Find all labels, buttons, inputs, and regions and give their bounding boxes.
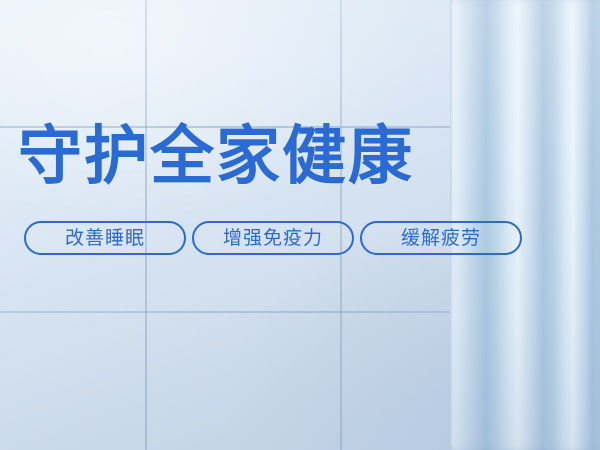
feature-tag-row: 改善睡眠 增强免疫力 缓解疲劳 <box>24 221 522 255</box>
feature-tag-boost-immunity[interactable]: 增强免疫力 <box>192 221 354 255</box>
feature-tag-improve-sleep[interactable]: 改善睡眠 <box>24 221 186 255</box>
promo-banner: 守护全家健康 改善睡眠 增强免疫力 缓解疲劳 <box>0 0 600 450</box>
feature-tag-relieve-fatigue[interactable]: 缓解疲劳 <box>360 221 522 255</box>
headline-title: 守护全家健康 <box>18 119 414 193</box>
banner-content: 守护全家健康 改善睡眠 增强免疫力 缓解疲劳 <box>0 0 600 450</box>
